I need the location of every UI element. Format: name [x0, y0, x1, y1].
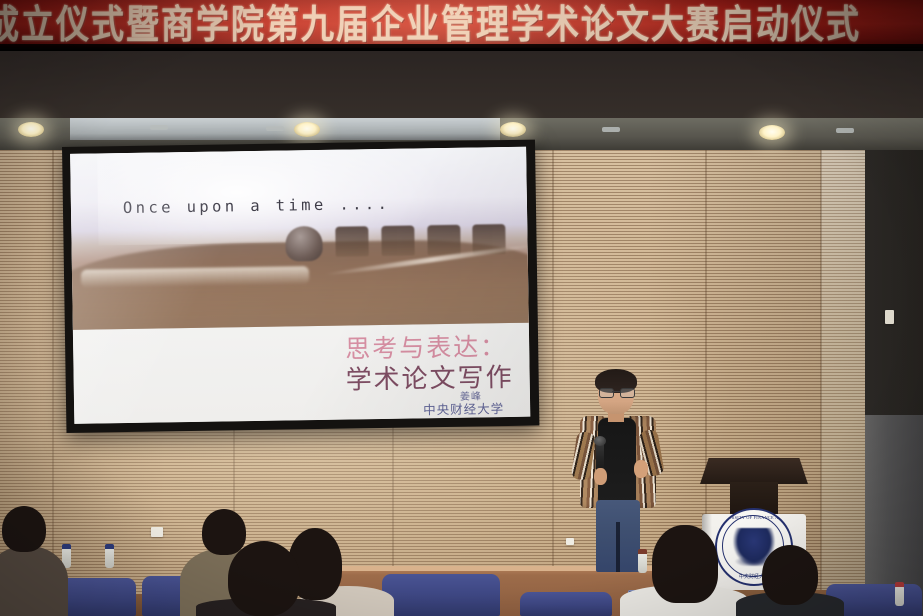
- slide-title-line-2: 学术论文写作: [345, 357, 514, 397]
- ceiling-vent: [150, 125, 168, 130]
- ceiling-downlight-icon: [759, 125, 785, 140]
- banner-shadow: [0, 44, 923, 51]
- typewriter-key: [336, 227, 369, 257]
- ceiling-vent: [602, 127, 620, 132]
- ceiling-trim-band-light: [70, 118, 500, 140]
- attendee-head: [2, 506, 46, 552]
- speaker-right-hand: [634, 460, 648, 478]
- attendee-head-long-hair: [652, 525, 718, 603]
- wall-plate: [885, 310, 894, 324]
- attendee-head: [202, 509, 246, 555]
- attendee-head: [762, 545, 818, 605]
- typewriter-knob: [286, 226, 323, 262]
- typewriter-carriage: [81, 266, 309, 287]
- slide-author-affiliation: 中央财经大学: [423, 398, 504, 418]
- bottle-cap: [105, 544, 114, 549]
- emblem-arc-text: UNIVERSITY OF FINANCE AND ECONOMICS: [717, 515, 791, 520]
- microphone-head: [594, 436, 606, 446]
- right-wall-return: [821, 150, 865, 616]
- slide-typewriter-photo: [70, 147, 529, 330]
- wall-outlet: [151, 527, 163, 537]
- projection-screen: Once upon a time .... 思考与表达： 学术论文写作 姜峰 中…: [62, 140, 539, 433]
- water-bottle: [105, 548, 114, 568]
- lecture-hall-photo: 成立仪式暨商学院第九届企业管理学术论文大赛启动仪式 Once upon a ti…: [0, 0, 923, 616]
- wall-seam: [820, 150, 822, 616]
- bottle-cap: [638, 549, 647, 554]
- podium-top-desk: [700, 458, 808, 484]
- bottle-cap: [895, 582, 904, 587]
- typewriter-key: [427, 225, 460, 255]
- wall-seam: [52, 150, 54, 616]
- auditorium-seat: [520, 592, 612, 616]
- speaker-left-hand: [594, 468, 607, 485]
- attendee-shoulders: [0, 546, 68, 616]
- bottle-cap: [62, 544, 71, 549]
- water-bottle: [895, 586, 904, 606]
- speaker-figure: [572, 372, 664, 572]
- water-bottle: [638, 553, 647, 573]
- ceiling-downlight-icon: [18, 122, 44, 137]
- speaker-leg-separation: [616, 522, 620, 572]
- ceiling-vent: [836, 128, 854, 133]
- wall-seam: [552, 150, 554, 616]
- speaker-glasses-icon: [599, 388, 633, 396]
- ceiling-downlight-icon: [294, 122, 320, 137]
- projection-screen-surface: Once upon a time .... 思考与表达： 学术论文写作 姜峰 中…: [70, 147, 530, 424]
- attendee-head: [228, 541, 300, 616]
- glasses-bridge: [612, 391, 620, 392]
- event-banner: 成立仪式暨商学院第九届企业管理学术论文大赛启动仪式: [0, 0, 923, 48]
- ceiling-downlight-icon: [500, 122, 526, 137]
- glasses-right-lens: [620, 388, 635, 398]
- event-banner-text: 成立仪式暨商学院第九届企业管理学术论文大赛启动仪式: [0, 0, 923, 48]
- typewriter-key: [381, 226, 414, 256]
- right-dark-upper-column: [865, 150, 923, 415]
- presentation-slide: Once upon a time .... 思考与表达： 学术论文写作 姜峰 中…: [70, 147, 530, 424]
- ceiling-vent: [266, 126, 284, 131]
- auditorium-seat: [382, 574, 500, 616]
- glasses-left-lens: [599, 388, 614, 398]
